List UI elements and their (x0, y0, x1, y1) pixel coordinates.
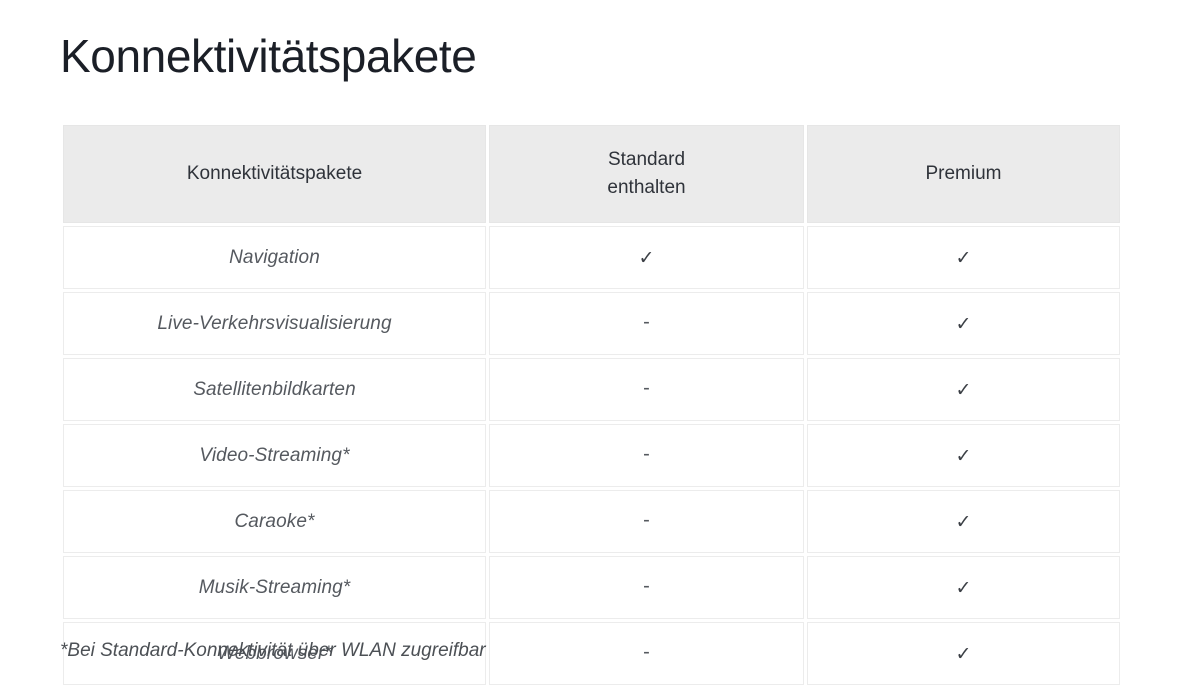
standard-availability-cell: - (489, 292, 804, 355)
table-row: Musik-Streaming* - ✓ (63, 556, 1120, 619)
table-row: Satellitenbildkarten - ✓ (63, 358, 1120, 421)
feature-name-cell: Live-Verkehrsvisualisierung (63, 292, 486, 355)
premium-availability-cell: ✓ (807, 556, 1120, 619)
standard-availability-cell: - (489, 622, 804, 685)
feature-name-cell: Video-Streaming* (63, 424, 486, 487)
check-icon: ✓ (956, 249, 972, 268)
premium-availability-cell: ✓ (807, 226, 1120, 289)
footnote-text: *Bei Standard-Konnektivität über WLAN zu… (60, 638, 486, 664)
standard-availability-cell: - (489, 556, 804, 619)
check-icon: ✓ (956, 447, 972, 466)
table-row: Navigation ✓ ✓ (63, 226, 1120, 289)
feature-name-cell: Musik-Streaming* (63, 556, 486, 619)
premium-availability-cell: ✓ (807, 490, 1120, 553)
check-icon: ✓ (956, 513, 972, 532)
dash-icon: - (643, 444, 650, 464)
table-row: Live-Verkehrsvisualisierung - ✓ (63, 292, 1120, 355)
table-row: Caraoke* - ✓ (63, 490, 1120, 553)
column-header-premium-label: Premium (818, 160, 1109, 188)
standard-availability-cell: - (489, 358, 804, 421)
column-header-feature-label: Konnektivitätspakete (74, 160, 475, 188)
standard-availability-cell: - (489, 424, 804, 487)
check-icon: ✓ (956, 579, 972, 598)
page-title: Konnektivitätspakete (60, 28, 477, 84)
connectivity-packages-table-wrapper: Konnektivitätspakete Standard enthalten … (60, 122, 1117, 688)
premium-availability-cell: ✓ (807, 358, 1120, 421)
check-icon: ✓ (956, 381, 972, 400)
check-icon: ✓ (956, 315, 972, 334)
premium-availability-cell: ✓ (807, 424, 1120, 487)
column-header-standard-label: Standard (500, 146, 793, 174)
table-body: Navigation ✓ ✓ Live-Verkehrsvisualisieru… (63, 226, 1120, 685)
premium-availability-cell: ✓ (807, 622, 1120, 685)
feature-name-cell: Navigation (63, 226, 486, 289)
column-header-premium: Premium (807, 125, 1120, 223)
page-root: Konnektivitätspakete Konnektivitätspaket… (0, 0, 1200, 691)
dash-icon: - (643, 642, 650, 662)
feature-name-cell: Caraoke* (63, 490, 486, 553)
column-header-standard-label-line2: enthalten (500, 174, 793, 202)
standard-availability-cell: - (489, 490, 804, 553)
column-header-feature: Konnektivitätspakete (63, 125, 486, 223)
connectivity-packages-table: Konnektivitätspakete Standard enthalten … (60, 122, 1123, 688)
premium-availability-cell: ✓ (807, 292, 1120, 355)
dash-icon: - (643, 312, 650, 332)
column-header-standard: Standard enthalten (489, 125, 804, 223)
table-row: Video-Streaming* - ✓ (63, 424, 1120, 487)
standard-availability-cell: ✓ (489, 226, 804, 289)
check-icon: ✓ (639, 249, 655, 268)
dash-icon: - (643, 510, 650, 530)
feature-name-cell: Satellitenbildkarten (63, 358, 486, 421)
table-header: Konnektivitätspakete Standard enthalten … (63, 125, 1120, 223)
dash-icon: - (643, 378, 650, 398)
table-header-row: Konnektivitätspakete Standard enthalten … (63, 125, 1120, 223)
check-icon: ✓ (956, 645, 972, 664)
dash-icon: - (643, 576, 650, 596)
